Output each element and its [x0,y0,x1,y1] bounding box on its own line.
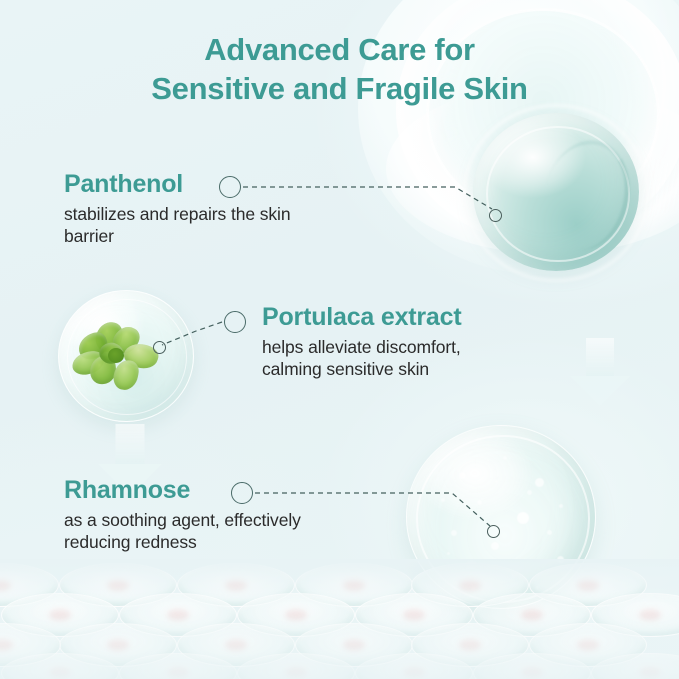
ingredient-name-panthenol: Panthenol [64,172,290,197]
infographic-canvas: Advanced Care for Sensitive and Fragile … [0,0,679,679]
ingredient-name-rhamnose: Rhamnose [64,478,301,503]
marker-circle-panthenol [219,176,241,198]
leaf-petal [112,358,141,392]
sparkle-dot [503,456,507,460]
ingredient-portulaca: Portulaca extract helps alleviate discom… [262,305,461,381]
down-arrow-right [570,338,630,406]
cell-pattern-fade [0,559,679,679]
skin-cell-pattern [0,559,679,679]
connector-endpoint-panthenol [489,209,502,222]
ingredient-description-panthenol: stabilizes and repairs the skin barrier [64,203,290,248]
ingredient-rhamnose: Rhamnose as a soothing agent, effectivel… [64,478,301,554]
connector-endpoint-rhamnose [487,525,500,538]
ingredient-name-portulaca: Portulaca extract [262,305,461,330]
sparkle-dot [535,478,544,487]
sparkle-dot [495,480,498,483]
leaf-core [108,348,124,363]
sparkle-dot [459,472,466,479]
arrow-shaft [586,338,614,376]
sparkle-dot [477,500,482,505]
ingredient-description-portulaca: helps alleviate discomfort, calming sens… [262,336,461,381]
sparkle-dot [441,498,445,502]
arrow-head [570,376,630,406]
connector-endpoint-portulaca [153,341,166,354]
portulaca-plant-icon [70,320,178,396]
marker-circle-portulaca [224,311,246,333]
sparkle-dot [491,542,499,550]
sparkle-dot [527,490,532,495]
sparkle-dot [547,530,552,535]
ingredient-panthenol: Panthenol stabilizes and repairs the ski… [64,172,290,248]
page-title: Advanced Care for Sensitive and Fragile … [0,30,679,108]
arrow-shaft [116,424,145,464]
sparkle-dot [451,530,457,536]
marker-circle-rhamnose [231,482,253,504]
sparkle-dot [559,504,563,508]
ingredient-description-rhamnose: as a soothing agent, effectively reducin… [64,509,301,554]
sparkle-dot [447,552,450,555]
sparkle-dot [517,512,529,524]
